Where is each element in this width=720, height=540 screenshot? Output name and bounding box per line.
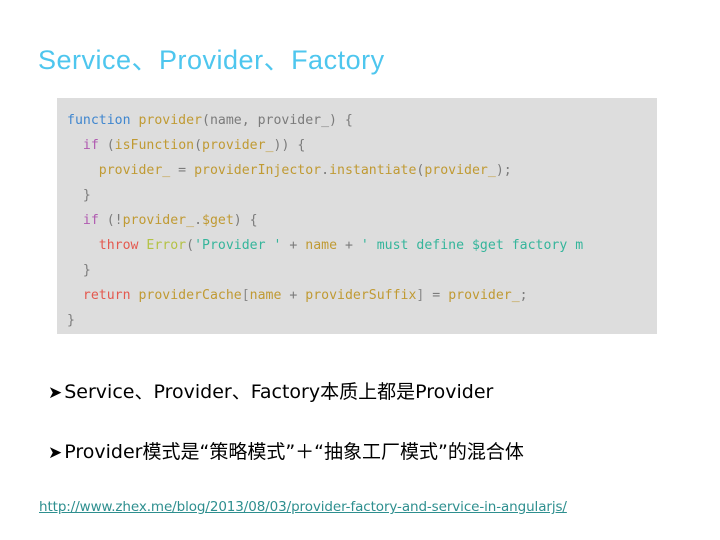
code-line: function provider(name, provider_) { [67,108,657,133]
code-token [67,213,83,228]
code-token: = [170,163,194,178]
code-token: + [337,238,361,253]
code-token: } [67,188,91,203]
code-token: name [305,238,337,253]
page-title: Service、Provider、Factory [38,44,385,76]
code-token [67,288,83,303]
code-line: } [67,183,657,208]
code-line: if (isFunction(provider_)) { [67,133,657,158]
code-token: (! [99,213,123,228]
code-token: providerSuffix [305,288,416,303]
code-line: } [67,308,657,333]
code-line: return providerCache[name + providerSuff… [67,283,657,308]
bullet-item-1: ➤ Service、Provider、Factory本质上都是Provider [48,381,493,405]
code-token: provider_ [424,163,495,178]
code-token [67,138,83,153]
code-token: 'Provider ' [194,238,281,253]
code-line: provider_ = providerInjector.instantiate… [67,158,657,183]
code-token: isFunction [115,138,194,153]
code-token: if [83,138,99,153]
code-snippet-block: function provider(name, provider_) { if … [57,98,657,334]
code-token: instantiate [329,163,416,178]
code-token: name [250,288,282,303]
code-token: $get [202,213,234,228]
bullet-arrow-icon: ➤ [48,445,62,462]
code-token: if [83,213,99,228]
bullet-item-2-label: Provider模式是“策略模式”＋“抽象工厂模式”的混合体 [64,441,524,465]
code-token: provider_ [99,163,170,178]
code-line: throw Error('Provider ' + name + ' must … [67,233,657,258]
code-token: [ [242,288,250,303]
code-token: function [67,113,131,128]
code-token: . [194,213,202,228]
code-token: ); [496,163,512,178]
code-token [67,238,99,253]
code-token: + [281,238,305,253]
code-token: )) { [274,138,306,153]
code-token: ( [194,138,202,153]
code-token: ( [99,138,115,153]
code-token: provider_ [123,213,194,228]
bullet-item-2: ➤ Provider模式是“策略模式”＋“抽象工厂模式”的混合体 [48,441,524,465]
code-token: return [83,288,131,303]
code-token [67,163,99,178]
bullet-item-1-label: Service、Provider、Factory本质上都是Provider [64,381,493,405]
code-token: provider [138,113,202,128]
bullet-arrow-icon: ➤ [48,385,62,402]
code-token: . [321,163,329,178]
code-token: ' must define $get factory m [361,238,583,253]
code-token: providerInjector [194,163,321,178]
code-token: } [67,263,91,278]
code-token: ) { [234,213,258,228]
slide-canvas: Service、Provider、Factory function provid… [0,0,720,540]
code-line: } [67,258,657,283]
code-token: + [281,288,305,303]
code-token: provider_ [448,288,519,303]
code-token: Error [146,238,186,253]
source-url-link[interactable]: http://www.zhex.me/blog/2013/08/03/provi… [39,499,567,515]
code-token: = [424,288,448,303]
code-token: ; [520,288,528,303]
code-line: if (!provider_.$get) { [67,208,657,233]
code-token: ( [186,238,194,253]
code-token: (name, provider_) { [202,113,353,128]
code-token: } [67,313,75,328]
code-token: providerCache [138,288,241,303]
code-token: throw [99,238,139,253]
code-token: provider_ [202,138,273,153]
